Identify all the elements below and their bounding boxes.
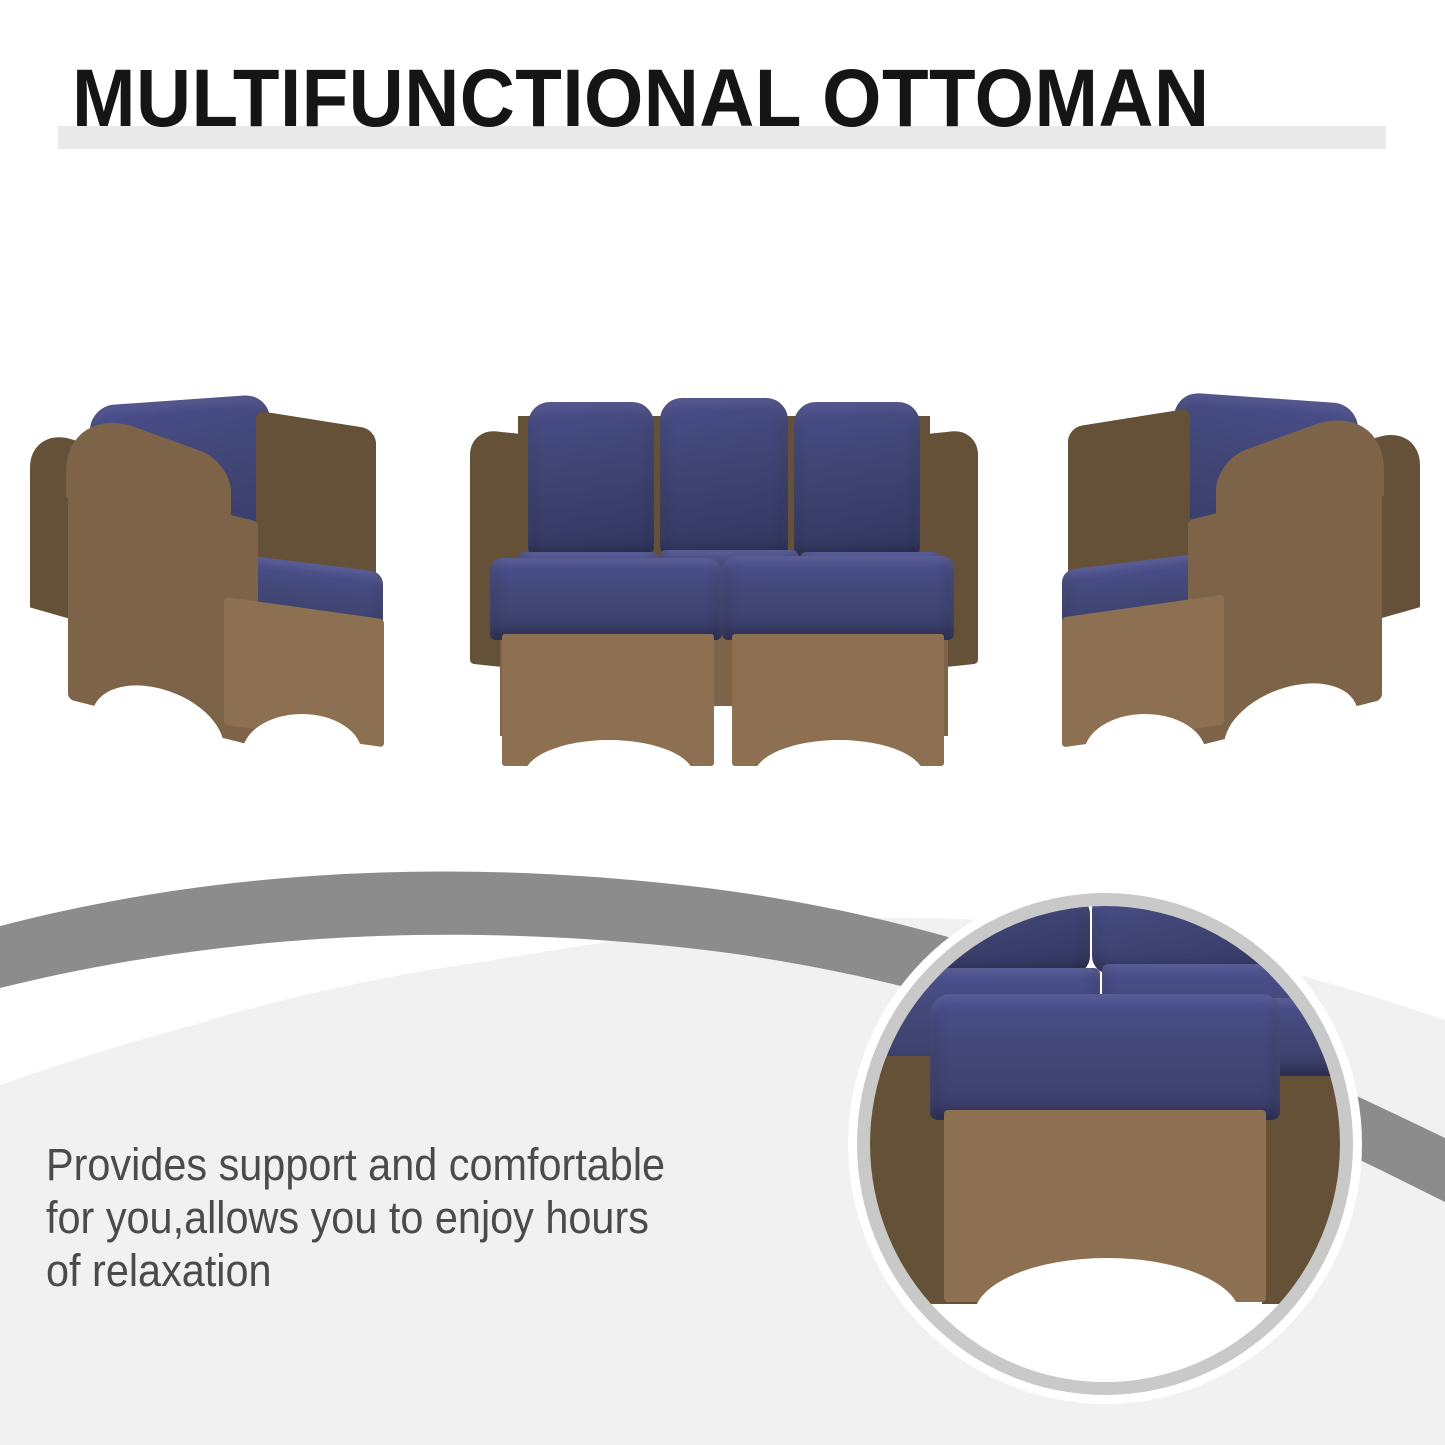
ottoman-right-cushion: [722, 556, 954, 640]
page-title: MULTIFUNCTIONAL OTTOMAN: [72, 56, 1300, 142]
sofa-back-cushion-2: [660, 398, 788, 557]
armchair-right: [1010, 380, 1422, 775]
feature-caption: Provides support and comfortable for you…: [46, 1138, 773, 1297]
caption-line-1: Provides support and comfortable: [46, 1138, 773, 1191]
ottoman-right: [722, 556, 954, 780]
caption-line-2: for you,allows you to enjoy hours: [46, 1191, 773, 1244]
detail-inset: [857, 893, 1353, 1395]
sofa-back-cushion-1: [528, 402, 654, 557]
product-feature-page: MULTIFUNCTIONAL OTTOMAN: [0, 0, 1445, 1445]
closeup-sofa-back-cushion-left: [870, 906, 1090, 974]
ottoman-left-cushion: [490, 558, 722, 640]
ottoman-left: [490, 558, 722, 780]
closeup-ottoman-cushion: [930, 994, 1280, 1120]
ottoman-closeup-image: [870, 906, 1340, 1382]
armchair-left: [28, 380, 428, 775]
sofa-back-cushion-3: [794, 402, 920, 557]
hero-product-image: [0, 380, 1445, 800]
inset-image-clip: [870, 906, 1340, 1382]
closeup-floor: [870, 1304, 1340, 1382]
caption-line-3: of relaxation: [46, 1244, 773, 1297]
